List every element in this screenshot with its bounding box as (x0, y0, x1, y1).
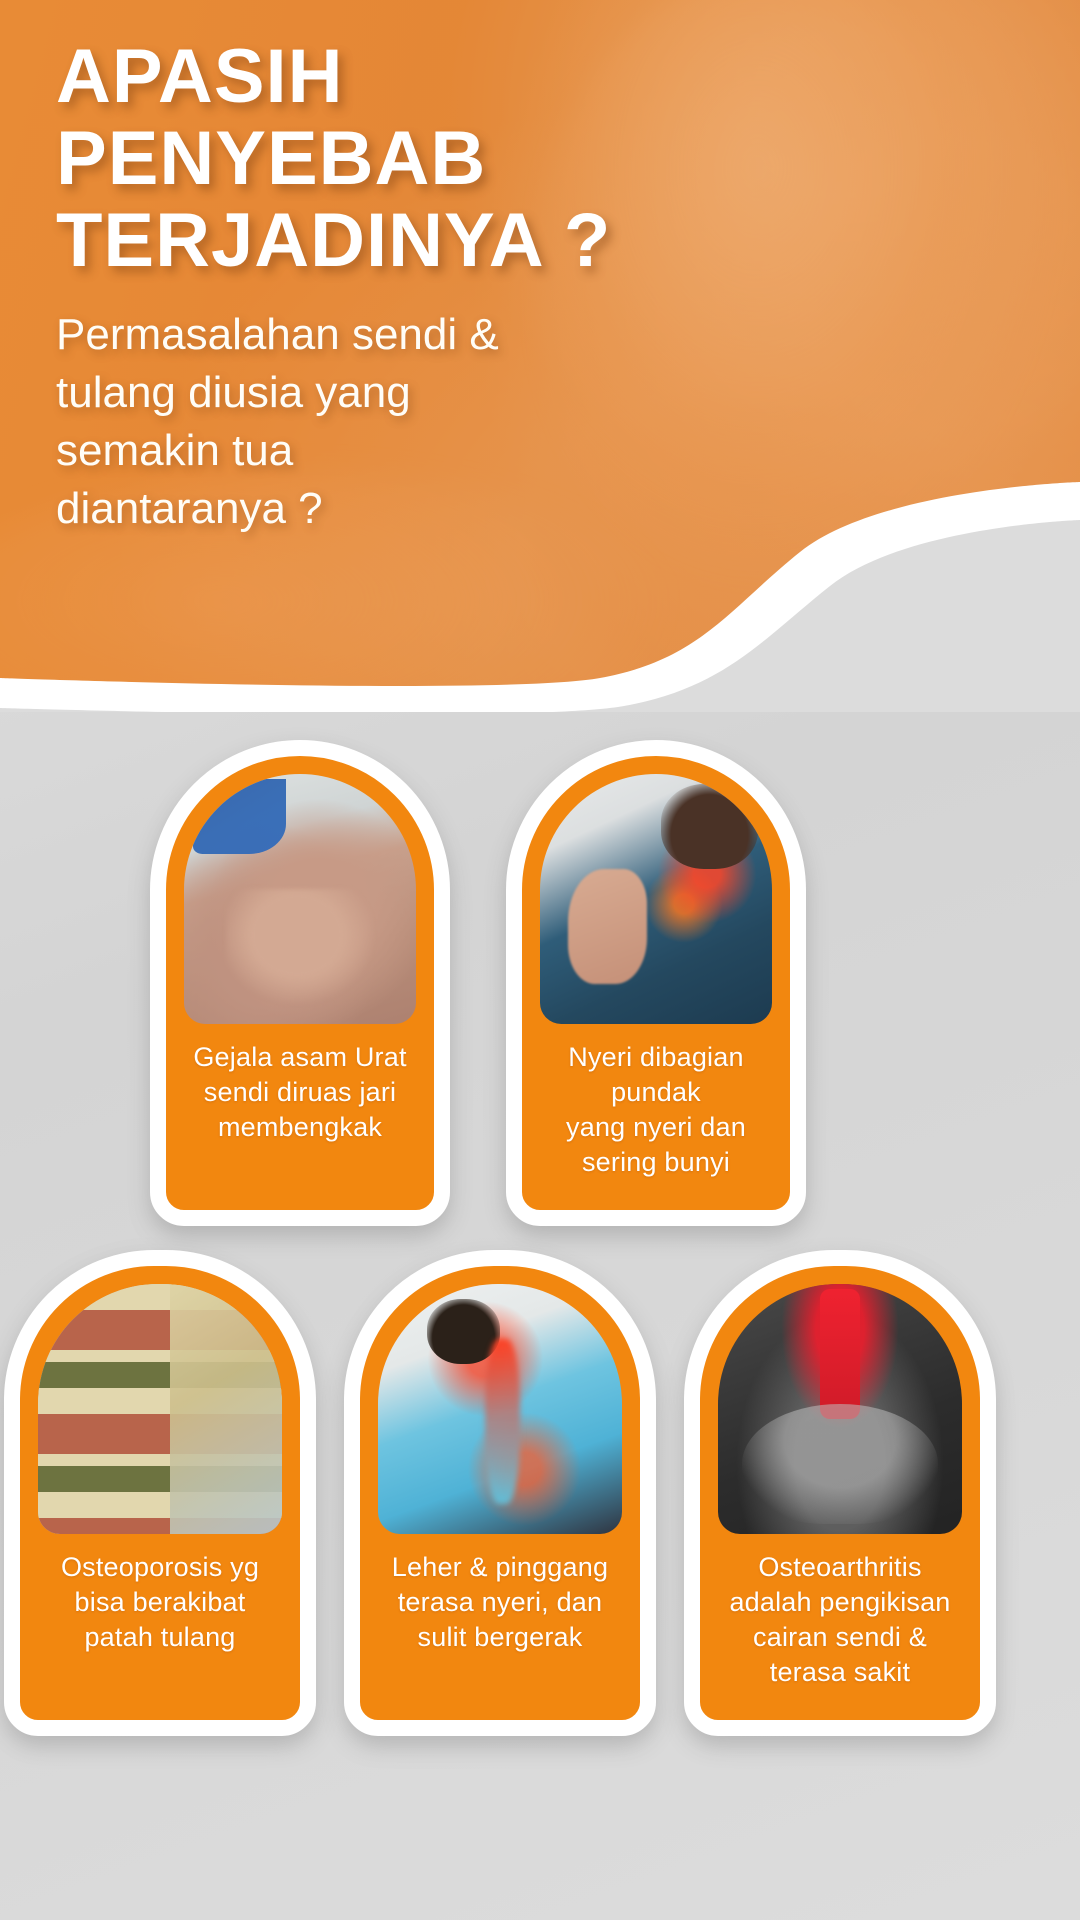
caption-line: pundak (566, 1075, 746, 1110)
card-gout-caption: Gejala asam Urat sendi diruas jari membe… (187, 1024, 412, 1149)
infographic-poster: APASIH PENYEBAB TERJADINYA ? Permasalaha… (0, 0, 1080, 1920)
card-neck-back[interactable]: Leher & pinggang terasa nyeri, dan sulit… (344, 1250, 656, 1736)
caption-line: Nyeri dibagian (566, 1040, 746, 1075)
caption-line: Leher & pinggang (392, 1550, 608, 1585)
header-text-block: APASIH PENYEBAB TERJADINYA ? Permasalaha… (56, 36, 776, 539)
card-osteoporosis[interactable]: Osteoporosis yg bisa berakibat patah tul… (4, 1250, 316, 1736)
card-shoulder-caption: Nyeri dibagian pundak yang nyeri dan ser… (560, 1024, 752, 1184)
card-neck-back-caption: Leher & pinggang terasa nyeri, dan sulit… (386, 1534, 614, 1659)
card-osteoporosis-photo (38, 1284, 282, 1534)
caption-line: sering bunyi (566, 1145, 746, 1180)
caption-line: Gejala asam Urat (193, 1040, 406, 1075)
caption-line: terasa nyeri, dan (392, 1585, 608, 1620)
shoulder-pain-icon (540, 774, 772, 1024)
subhead-line-2: tulang diusia yang (56, 364, 776, 422)
page-subtitle: Permasalahan sendi & tulang diusia yang … (56, 306, 776, 538)
caption-line: adalah pengikisan (729, 1585, 950, 1620)
vertebrae-osteoporosis-icon (38, 1284, 282, 1534)
subhead-line-3: semakin tua (56, 422, 776, 480)
caption-line: Osteoarthritis (729, 1550, 950, 1585)
page-title: APASIH PENYEBAB TERJADINYA ? (56, 36, 776, 282)
card-shoulder[interactable]: Nyeri dibagian pundak yang nyeri dan ser… (506, 740, 806, 1226)
caption-line: membengkak (193, 1110, 406, 1145)
caption-line: sulit bergerak (392, 1620, 608, 1655)
caption-line: bisa berakibat (61, 1585, 259, 1620)
card-neck-back-photo (378, 1284, 622, 1534)
swollen-finger-joints-icon (184, 774, 416, 1024)
pelvis-xray-icon (718, 1284, 962, 1534)
caption-line: terasa sakit (729, 1655, 950, 1690)
card-osteoarthritis[interactable]: Osteoarthritis adalah pengikisan cairan … (684, 1250, 996, 1736)
cards-row-top: Gejala asam Urat sendi diruas jari membe… (150, 740, 1080, 1226)
subhead-line-4: diantaranya ? (56, 480, 776, 538)
headline-line-1: APASIH (56, 36, 776, 118)
subhead-line-1: Permasalahan sendi & (56, 306, 776, 364)
card-gout-photo (184, 774, 416, 1024)
caption-line: patah tulang (61, 1620, 259, 1655)
caption-line: Osteoporosis yg (61, 1550, 259, 1585)
card-shoulder-photo (540, 774, 772, 1024)
cards-area: Gejala asam Urat sendi diruas jari membe… (0, 740, 1080, 1920)
card-osteoarthritis-caption: Osteoarthritis adalah pengikisan cairan … (723, 1534, 956, 1694)
card-gout[interactable]: Gejala asam Urat sendi diruas jari membe… (150, 740, 450, 1226)
headline-line-3: TERJADINYA ? (56, 200, 776, 282)
caption-line: cairan sendi & (729, 1620, 950, 1655)
card-osteoporosis-caption: Osteoporosis yg bisa berakibat patah tul… (55, 1534, 265, 1659)
cards-row-bottom: Osteoporosis yg bisa berakibat patah tul… (4, 1250, 1080, 1736)
card-osteoarthritis-photo (718, 1284, 962, 1534)
caption-line: yang nyeri dan (566, 1110, 746, 1145)
headline-line-2: PENYEBAB (56, 118, 776, 200)
caption-line: sendi diruas jari (193, 1075, 406, 1110)
neck-and-lower-back-pain-icon (378, 1284, 622, 1534)
header-banner: APASIH PENYEBAB TERJADINYA ? Permasalaha… (0, 0, 1080, 712)
